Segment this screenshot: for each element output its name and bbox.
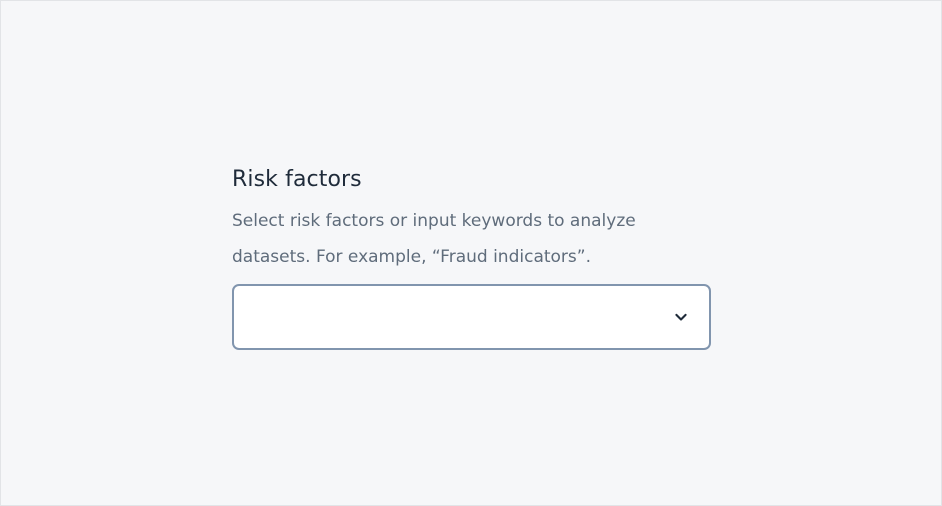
risk-factors-panel: Risk factors Select risk factors or inpu…	[232, 165, 712, 275]
chevron-down-icon[interactable]	[673, 309, 689, 325]
risk-factors-screen: Risk factors Select risk factors or inpu…	[0, 0, 942, 506]
section-description: Select risk factors or input keywords to…	[232, 203, 710, 275]
page-title: Risk factors	[232, 165, 712, 195]
risk-factors-dropdown[interactable]	[232, 284, 711, 350]
